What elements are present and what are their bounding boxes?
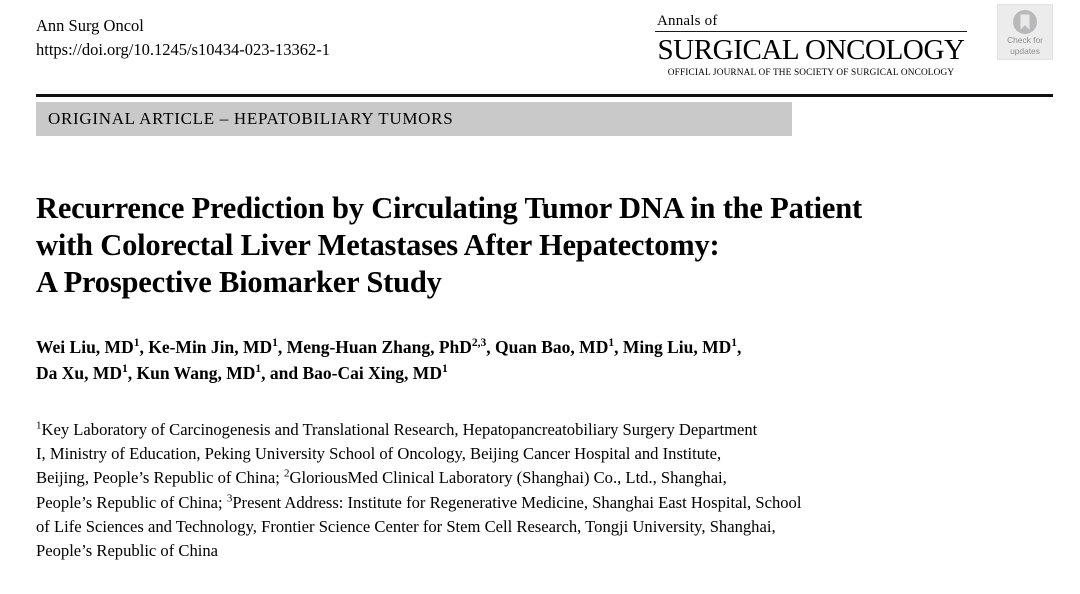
author-name: Wei Liu, MD	[36, 337, 134, 357]
separator: ,	[278, 337, 287, 357]
crossmark-label-line2: updates	[998, 47, 1052, 57]
affiliation-line-2: I, Ministry of Education, Peking Univers…	[36, 442, 1036, 466]
affiliation-line-4: People’s Republic of China; 3Present Add…	[36, 491, 1036, 515]
author-name: Ke-Min Jin, MD	[148, 337, 272, 357]
doi-link[interactable]: https://doi.org/10.1245/s10434-023-13362…	[36, 38, 330, 62]
page-title: Recurrence Prediction by Circulating Tum…	[36, 190, 1016, 301]
author-name: Bao-Cai Xing, MD	[302, 363, 442, 383]
affiliation-line-6: People’s Republic of China	[36, 539, 1036, 563]
author-affiliation-marker: 2,3	[472, 337, 486, 349]
affiliation-text: Present Address: Institute for Regenerat…	[232, 493, 801, 512]
journal-name: Ann Surg Oncol	[36, 14, 330, 38]
separator: ,	[139, 337, 148, 357]
check-for-updates-badge[interactable]: Check for updates	[997, 4, 1053, 60]
affiliation-list: 1Key Laboratory of Carcinogenesis and Tr…	[36, 418, 1036, 563]
author-list: Wei Liu, MD1, Ke-Min Jin, MD1, Meng-Huan…	[36, 334, 1026, 386]
section-banner: ORIGINAL ARTICLE – HEPATOBILIARY TUMORS	[36, 102, 792, 136]
affiliation-text: People’s Republic of China;	[36, 493, 227, 512]
affiliation-text: Beijing, People’s Republic of China;	[36, 468, 284, 487]
logo-title: SURGICAL ONCOLOGY	[655, 34, 967, 67]
author-name: Ming Liu, MD	[623, 337, 731, 357]
affiliation-text: People’s Republic of China	[36, 541, 218, 560]
header-divider-rule	[36, 94, 1053, 97]
title-line-2: with Colorectal Liver Metastases After H…	[36, 227, 1016, 264]
author-name: Quan Bao, MD	[495, 337, 608, 357]
section-banner-label: ORIGINAL ARTICLE – HEPATOBILIARY TUMORS	[48, 108, 453, 130]
separator: ,	[614, 337, 623, 357]
crossmark-label-line1: Check for	[998, 36, 1052, 46]
separator: ,	[486, 337, 495, 357]
logo-annals-of: Annals of	[655, 12, 967, 30]
author-name: Meng-Huan Zhang, PhD	[287, 337, 472, 357]
logo-tagline: OFFICIAL JOURNAL OF THE SOCIETY OF SURGI…	[655, 67, 967, 79]
author-line-2: Da Xu, MD1, Kun Wang, MD1, and Bao-Cai X…	[36, 360, 1026, 386]
affiliation-text: of Life Sciences and Technology, Frontie…	[36, 517, 776, 536]
affiliation-line-1: 1Key Laboratory of Carcinogenesis and Tr…	[36, 418, 1036, 442]
journal-logo: Annals of SURGICAL ONCOLOGY OFFICIAL JOU…	[655, 12, 967, 79]
title-line-1: Recurrence Prediction by Circulating Tum…	[36, 190, 1016, 227]
affiliation-text: Key Laboratory of Carcinogenesis and Tra…	[42, 420, 758, 439]
author-name: Da Xu, MD	[36, 363, 122, 383]
separator: ,	[128, 363, 137, 383]
title-line-3: A Prospective Biomarker Study	[36, 264, 1016, 301]
affiliation-line-3: Beijing, People’s Republic of China; 2Gl…	[36, 466, 1036, 490]
author-affiliation-marker: 1	[442, 363, 448, 375]
affiliation-line-5: of Life Sciences and Technology, Frontie…	[36, 515, 1036, 539]
author-line-1: Wei Liu, MD1, Ke-Min Jin, MD1, Meng-Huan…	[36, 334, 1026, 360]
author-name: Kun Wang, MD	[137, 363, 256, 383]
affiliation-text: GloriousMed Clinical Laboratory (Shangha…	[289, 468, 726, 487]
page-header: Ann Surg Oncol https://doi.org/10.1245/s…	[0, 0, 1080, 92]
separator: , and	[261, 363, 302, 383]
crossmark-bookmark-icon	[1012, 9, 1038, 35]
journal-meta: Ann Surg Oncol https://doi.org/10.1245/s…	[36, 14, 330, 62]
affiliation-text: I, Ministry of Education, Peking Univers…	[36, 444, 721, 463]
logo-divider	[655, 31, 967, 32]
separator: ,	[737, 337, 741, 357]
